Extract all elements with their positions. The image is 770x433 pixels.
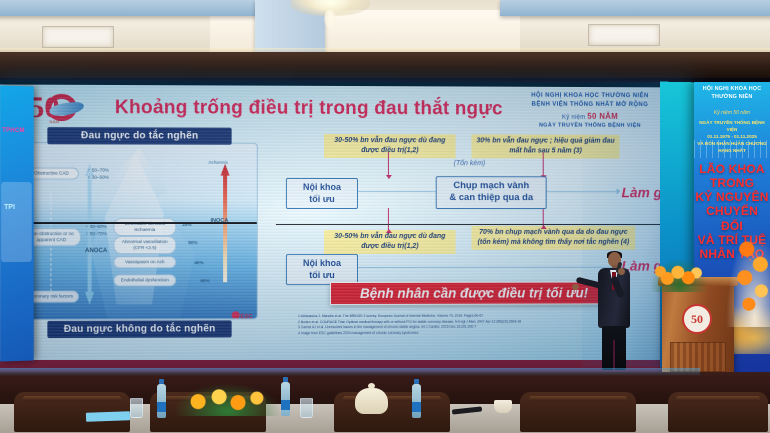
sex-prevalence-top: ♂ 50–70% ♀ 30–50%	[87, 168, 109, 181]
bottle-label-1	[157, 402, 166, 412]
bottle-cap-3	[414, 379, 419, 384]
flow-arrowhead-1	[617, 188, 621, 194]
water-bottle-3	[412, 384, 421, 418]
bottle-label-3	[412, 402, 421, 412]
chandelier-drop	[324, 10, 336, 28]
sex-prevalence-bottom: ♂ 30–50% ♀ 50–70%	[85, 224, 107, 237]
bottle-cap-1	[159, 379, 164, 384]
anoca-label: ANOCA	[85, 248, 107, 254]
ceiling-vent-left	[42, 26, 114, 48]
ceiling-beam-left	[0, 0, 290, 16]
left-banner-text-cyan: TPI	[4, 204, 34, 211]
drinking-glass-1	[130, 398, 143, 418]
table-document	[86, 411, 130, 422]
chair-rail-5	[676, 396, 760, 401]
drinking-glass-2	[300, 398, 313, 418]
ton-kem-label: (Tốn kém)	[454, 160, 486, 167]
water-bottle-2	[281, 382, 290, 416]
teapot-lid-knob	[368, 383, 375, 389]
box-angiography-pci: Chụp mạch vành & can thiệp qua da	[436, 176, 547, 209]
callout-arrowhead-3	[386, 229, 392, 233]
conference-photo-scene: TPHCM TPI 50 NAM Khoảng trống điều trị t…	[0, 0, 770, 433]
right-banner-decor-dots	[694, 140, 770, 158]
box-optimal-medical-1: Nội khoa tối ưu	[286, 178, 358, 209]
mechanism-pct-4: 60%	[200, 278, 209, 283]
chandelier	[282, 0, 378, 32]
teacup	[494, 400, 512, 413]
callout-1: 30-50% bn vẫn đau ngực dù đang được điều…	[324, 134, 456, 159]
chair-3	[334, 392, 450, 432]
mechanism-label-2: Abnormal vasodilation (CFR <2.5)	[113, 236, 176, 255]
mechanism-pct-2: 50%	[188, 240, 197, 245]
led-screen-surface: 50 NAM Khoảng trống điều trị trong đau t…	[0, 84, 688, 364]
iceberg-bottom-label: Đau ngực không do tắc nghẽn	[47, 320, 231, 338]
conference-header: HỘI NGHỊ KHOA HỌC THƯỜNG NIÊN BỆNH VIỆN …	[501, 92, 678, 131]
mechanism-label-4: Endothelial dysfunction	[113, 274, 176, 286]
speaker-presenter	[592, 252, 638, 370]
table-flower-centerpiece	[175, 384, 280, 416]
slide-title: Khoảng trống điều trị trong đau thắt ngự…	[98, 97, 519, 121]
chair-4	[520, 392, 636, 432]
chair-rail-4	[529, 396, 626, 401]
conf-header-50-nam: 50 NĂM	[587, 112, 618, 121]
podium: 50	[662, 282, 734, 378]
callout-2: 30% bn vẫn đau ngực ; hiệu quả giảm đau …	[471, 134, 619, 158]
podium-logo: 50	[682, 304, 712, 334]
left-banner-text-pink: TPHCM	[2, 128, 34, 135]
ceiling-vent-right	[588, 24, 660, 46]
speaker-leg-split	[613, 340, 615, 370]
conf-header-line3: Kỷ niệm 50 NĂM	[501, 111, 678, 123]
iceberg-top-label: Đau ngực do tắc nghẽn	[47, 127, 231, 145]
mechanism-label-1: Detectable demand ischaemia	[113, 218, 176, 237]
esc-logo-text: ESC	[240, 314, 252, 320]
mechanism-pct-3: 40%	[194, 260, 203, 265]
callout-3: 30-50% bn vẫn đau ngực dù đang được điều…	[324, 230, 456, 254]
chair-rail-1	[23, 396, 120, 401]
flow-line-3	[358, 267, 618, 268]
mechanism-label-3: Vasospasm on Ach	[113, 256, 176, 268]
esc-logo: ESC	[231, 311, 252, 320]
bottle-label-2	[281, 400, 290, 410]
flow-line-2	[547, 191, 618, 192]
bottle-cap-2	[283, 377, 288, 382]
waterline-divider	[19, 222, 258, 224]
callout-arrow-1	[388, 152, 389, 176]
right-flower-arrangement	[726, 232, 770, 327]
flow-line-1	[358, 191, 436, 192]
right-banner-top-text: HỘI NGHỊ KHOA HỌC THƯỜNG NIÊN	[694, 86, 770, 102]
podium-flower-arrangement	[650, 258, 708, 292]
ischaemia-label: Ischaemia	[208, 160, 227, 165]
logo-caption: NAM	[49, 119, 59, 124]
callout-arrow-2	[543, 152, 544, 176]
left-banner-panel	[1, 182, 32, 262]
conf-header-ky-niem: Kỷ niệm	[562, 115, 585, 121]
chair-5	[668, 392, 768, 432]
box-optimal-medical-2: Nội khoa tối ưu	[286, 254, 358, 285]
heart-icon	[231, 311, 239, 319]
ceiling-beam-right	[500, 0, 770, 16]
iceberg-diagram: Đau ngực do tắc nghẽn Obstructive CAD No…	[19, 133, 258, 330]
led-screen: 50 NAM Khoảng trống điều trị trong đau t…	[0, 80, 694, 368]
callout-4: 70% bn chụp mạch vành qua da do đau ngực…	[471, 226, 635, 250]
speaker-right-hand	[618, 268, 625, 275]
speaker-left-hand	[572, 284, 579, 290]
callout-arrow-3	[388, 208, 389, 230]
conf-header-line2: BỆNH VIỆN THỐNG NHẤT MỞ RỘNG	[501, 100, 678, 109]
screen-bottom-glow	[0, 368, 700, 376]
callout-arrowhead-4	[541, 225, 547, 229]
teapot	[355, 388, 388, 414]
callout-arrowhead-1	[386, 175, 392, 179]
water-bottle-1	[157, 384, 166, 418]
horizontal-section-divider	[276, 224, 684, 225]
right-banner-ky-niem: Kỷ niệm 50 năm	[694, 110, 770, 116]
iceberg-panel: Obstructive CAD Non-obstructive or no ap…	[19, 142, 258, 320]
presentation-slide: 50 NAM Khoảng trống điều trị trong đau t…	[0, 84, 688, 364]
conf-header-line4: NGÀY TRUYỀN THỐNG BỆNH VIỆN	[501, 123, 678, 131]
left-side-banner: TPHCM TPI	[0, 85, 34, 361]
